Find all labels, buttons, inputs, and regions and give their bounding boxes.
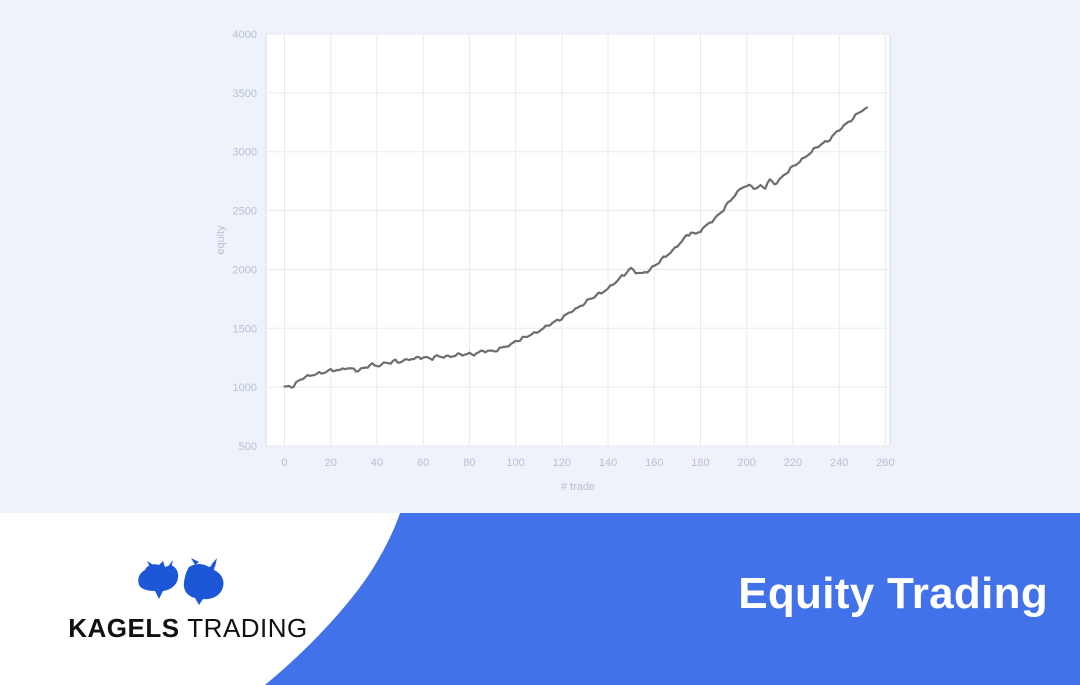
svg-text:160: 160 bbox=[645, 457, 663, 469]
svg-text:180: 180 bbox=[691, 457, 709, 469]
equity-line-chart: 5001000150020002500300035004000020406080… bbox=[200, 12, 900, 502]
bull-and-bear-logo bbox=[129, 555, 247, 607]
brand-block: KAGELS TRADING bbox=[38, 555, 338, 644]
svg-text:140: 140 bbox=[599, 457, 617, 469]
svg-text:2500: 2500 bbox=[233, 206, 257, 218]
footer-title: Equity Trading bbox=[738, 569, 1048, 619]
plot-background bbox=[266, 34, 890, 446]
svg-text:2000: 2000 bbox=[233, 264, 257, 276]
y-axis-ticks: 5001000150020002500300035004000 bbox=[233, 29, 257, 453]
svg-text:100: 100 bbox=[506, 457, 524, 469]
svg-text:120: 120 bbox=[553, 457, 571, 469]
svg-text:20: 20 bbox=[325, 457, 337, 469]
x-axis-ticks: 020406080100120140160180200220240260 bbox=[281, 457, 894, 469]
svg-text:3500: 3500 bbox=[233, 88, 257, 100]
svg-text:200: 200 bbox=[738, 457, 756, 469]
brand-name: KAGELS TRADING bbox=[68, 613, 308, 644]
svg-text:3000: 3000 bbox=[233, 147, 257, 159]
y-axis-title: equity bbox=[215, 225, 227, 255]
svg-text:1500: 1500 bbox=[233, 323, 257, 335]
svg-text:500: 500 bbox=[239, 441, 257, 453]
svg-text:40: 40 bbox=[371, 457, 383, 469]
svg-text:80: 80 bbox=[463, 457, 475, 469]
svg-text:1000: 1000 bbox=[233, 382, 257, 394]
footer-bar: KAGELS TRADING Equity Trading bbox=[0, 513, 1080, 685]
svg-text:220: 220 bbox=[784, 457, 802, 469]
chart-area: 5001000150020002500300035004000020406080… bbox=[0, 0, 1080, 513]
equity-chart: 5001000150020002500300035004000020406080… bbox=[200, 12, 900, 502]
brand-name-bold: KAGELS bbox=[68, 613, 179, 643]
svg-text:260: 260 bbox=[876, 457, 894, 469]
x-axis-title: # trade bbox=[561, 481, 595, 493]
svg-text:60: 60 bbox=[417, 457, 429, 469]
svg-text:4000: 4000 bbox=[233, 29, 257, 41]
brand-name-light: TRADING bbox=[187, 613, 308, 643]
svg-text:240: 240 bbox=[830, 457, 848, 469]
svg-text:0: 0 bbox=[281, 457, 287, 469]
